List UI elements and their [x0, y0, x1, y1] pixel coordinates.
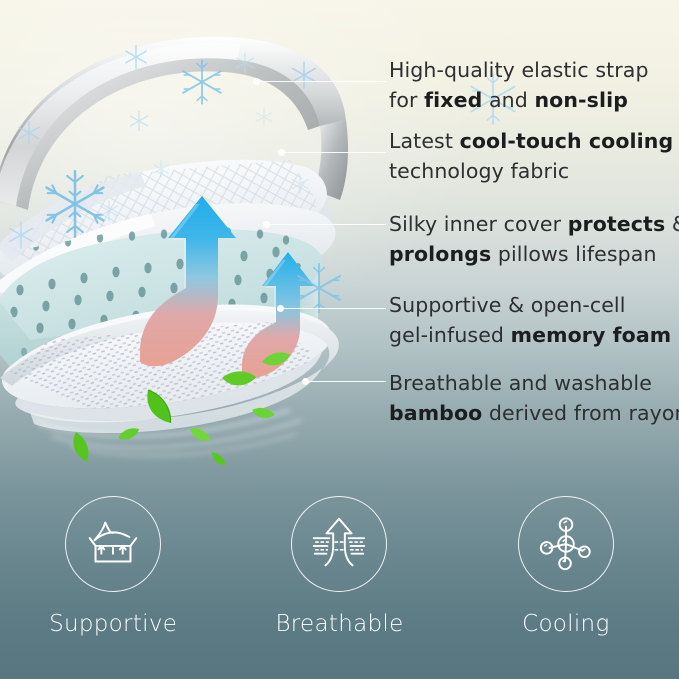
- head-on-pillow-support-icon: [82, 513, 144, 575]
- supportive-icon-circle: [65, 496, 161, 592]
- molecule-icon: [535, 513, 597, 575]
- callout-line: bamboo derived from rayon: [389, 398, 679, 428]
- leader-dot-bamboo: [302, 378, 309, 385]
- snowflake-icon: [14, 118, 44, 148]
- feature-row: Supportive: [0, 496, 679, 666]
- snowflake-icon: [175, 55, 229, 109]
- infographic-canvas: High-quality elastic strap for fixed and…: [0, 0, 679, 679]
- callout-elastic-strap: High-quality elastic strap for fixed and…: [389, 55, 649, 115]
- snowflake-icon: [4, 218, 38, 252]
- snowflake-icon: [96, 198, 122, 224]
- callout-line: prolongs pillows lifespan: [389, 239, 679, 269]
- feature-label: Cooling: [522, 611, 609, 637]
- cooling-icon-circle: [518, 496, 614, 592]
- leader-line-strap: [258, 81, 386, 82]
- feature-label: Supportive: [49, 611, 177, 637]
- snowflake-icon: [288, 172, 312, 196]
- leader-dot-cooling-fabric: [278, 149, 285, 156]
- snowflake-icon: [129, 250, 149, 270]
- airflow-arrow-icon: [308, 513, 370, 575]
- callout-line: technology fabric: [389, 156, 673, 186]
- leader-dot-memory-foam: [277, 305, 284, 312]
- snowflake-icon: [126, 108, 152, 134]
- feature-cooling: Cooling: [466, 496, 666, 637]
- leader-line-memory-foam: [282, 308, 386, 309]
- feature-breathable: Breathable: [239, 496, 439, 637]
- leader-dot-strap: [253, 78, 260, 85]
- callout-line: Silky inner cover protects &: [389, 209, 679, 239]
- breathable-icon-circle: [291, 496, 387, 592]
- callout-line: Latest cool-touch cooling: [389, 126, 673, 156]
- callout-line: gel-infused memory foam: [389, 320, 671, 350]
- callout-memory-foam: Supportive & open-cell gel-infused memor…: [389, 290, 671, 350]
- snowflake-icon: [121, 42, 151, 72]
- leader-line-inner-cover: [268, 224, 386, 225]
- callout-bamboo-cover: Breathable and washable bamboo derived f…: [389, 368, 679, 428]
- snowflake-icon: [232, 50, 258, 76]
- snowflake-icon: [150, 158, 172, 180]
- callout-line: Supportive & open-cell: [389, 290, 671, 320]
- snowflake-icon: [253, 106, 275, 128]
- snowflake-icon: [289, 258, 349, 318]
- leader-dot-inner-cover: [263, 221, 270, 228]
- callout-cooling-fabric: Latest cool-touch cooling technology fab…: [389, 126, 673, 186]
- leader-line-cooling-fabric: [283, 152, 386, 153]
- callout-inner-cover: Silky inner cover protects & prolongs pi…: [389, 209, 679, 269]
- callout-line: High-quality elastic strap: [389, 55, 649, 85]
- callout-line: for fixed and non-slip: [389, 85, 649, 115]
- leader-line-bamboo: [307, 381, 386, 382]
- snowflake-icon: [287, 58, 321, 92]
- feature-label: Breathable: [275, 611, 403, 637]
- feature-supportive: Supportive: [13, 496, 213, 637]
- callout-line: Breathable and washable: [389, 368, 679, 398]
